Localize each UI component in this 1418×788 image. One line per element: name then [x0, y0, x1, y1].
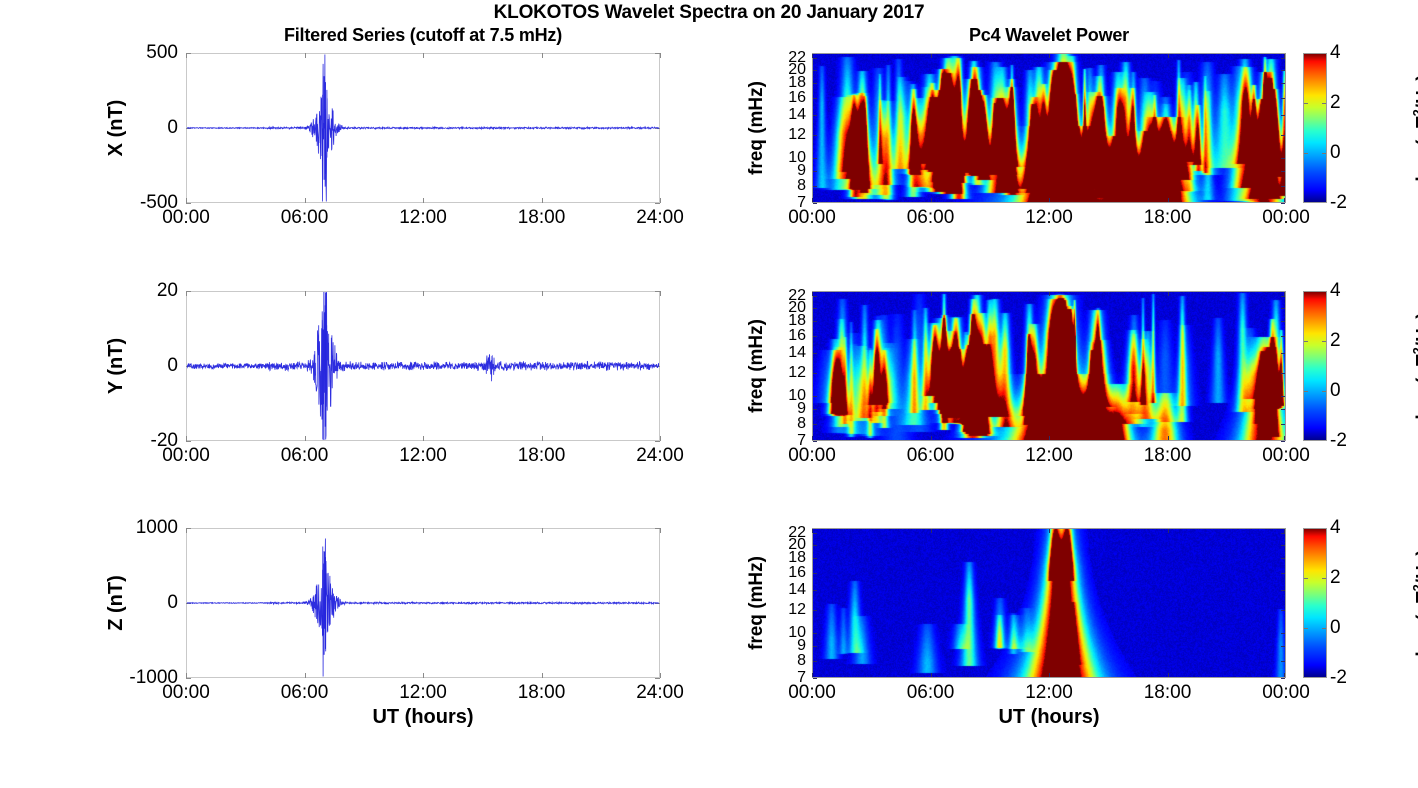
- colorbar-tick-y-wavelet-power-2: 0: [1330, 380, 1341, 402]
- freq-tickmark-z-wavelet-power-5: [813, 610, 817, 611]
- freq-tickmark-r-z-wavelet-power-2: [1281, 558, 1285, 559]
- freq-tickmark-y-wavelet-power-8: [813, 424, 817, 425]
- colorbar-x-wavelet-power: [1303, 53, 1327, 203]
- xtick-z-component-1: 06:00: [281, 682, 329, 704]
- figure-main-title: KLOKOTOS Wavelet Spectra on 20 January 2…: [0, 2, 1418, 24]
- colorbar-label-tail: /Hz): [1413, 312, 1418, 347]
- spec-xtick-z-wavelet-power-3: 18:00: [1144, 682, 1192, 704]
- spec-xtick-x-wavelet-power-2: 12:00: [1025, 207, 1073, 229]
- colorbar-tick-z-wavelet-power-3: -2: [1330, 667, 1347, 689]
- colorbar-label-exp: 2: [1410, 347, 1418, 354]
- colorbar-label-unit: (nT: [1413, 354, 1418, 384]
- freq-tickmark-x-wavelet-power-2: [813, 83, 817, 84]
- spec-xtickmark-z-wavelet-power-1: [931, 673, 932, 677]
- freq-tick-y-wavelet-power-4: 14: [776, 344, 806, 362]
- xtick-z-component-3: 18:00: [518, 682, 566, 704]
- spectrogram-z-wavelet-power: [812, 528, 1286, 678]
- freq-tickmark-r-z-wavelet-power-4: [1281, 590, 1285, 591]
- colorbar-tickmark-l-x-wavelet-power-1: [1304, 103, 1308, 104]
- freq-tickmark-z-wavelet-power-9: [813, 678, 817, 679]
- spec-xtick-z-wavelet-power-2: 12:00: [1025, 682, 1073, 704]
- freq-tickmark-r-x-wavelet-power-5: [1281, 135, 1285, 136]
- freq-tickmark-z-wavelet-power-4: [813, 590, 817, 591]
- colorbar-tick-z-wavelet-power-1: 2: [1330, 567, 1341, 589]
- freq-tickmark-y-wavelet-power-4: [813, 353, 817, 354]
- timeseries-trace-x-component: [187, 54, 659, 202]
- freq-tickmark-r-y-wavelet-power-6: [1281, 396, 1285, 397]
- spec-xtickmark-t-z-wavelet-power-1: [931, 529, 932, 533]
- freq-tick-x-wavelet-power-3: 16: [776, 89, 806, 107]
- tickmark-y-r-y-component-2: [655, 441, 660, 442]
- xtick-x-component-0: 00:00: [162, 207, 210, 229]
- colorbar-tickmark-l-z-wavelet-power-2: [1304, 628, 1308, 629]
- spec-xtickmark-z-wavelet-power-4: [1284, 673, 1285, 677]
- spectrogram-canvas-x-wavelet-power: [813, 54, 1285, 202]
- colorbar-label-x-wavelet-power: log2(nT2/Hz): [1404, 43, 1418, 213]
- xtick-z-component-2: 12:00: [399, 682, 447, 704]
- freq-tickmark-z-wavelet-power-8: [813, 661, 817, 662]
- colorbar-tickmark-l-z-wavelet-power-1: [1304, 578, 1308, 579]
- spec-xtickmark-y-wavelet-power-3: [1168, 436, 1169, 440]
- tickmark-y-r-z-component-2: [655, 678, 660, 679]
- tickmark-y-y-component-2: [186, 441, 191, 442]
- freq-tickmark-r-z-wavelet-power-9: [1281, 678, 1285, 679]
- left-column-title: Filtered Series (cutoff at 7.5 mHz): [186, 25, 660, 46]
- colorbar-tickmark-z-wavelet-power-2: [1322, 628, 1326, 629]
- colorbar-tickmark-l-x-wavelet-power-2: [1304, 153, 1308, 154]
- freq-tickmark-x-wavelet-power-4: [813, 115, 817, 116]
- freq-tickmark-r-x-wavelet-power-1: [1281, 70, 1285, 71]
- freq-tickmark-x-wavelet-power-9: [813, 203, 817, 204]
- colorbar-tick-x-wavelet-power-3: -2: [1330, 192, 1347, 214]
- freq-tickmark-z-wavelet-power-3: [813, 573, 817, 574]
- colorbar-tickmark-x-wavelet-power-2: [1322, 153, 1326, 154]
- yaxis-label-x-component: X (nT): [102, 48, 130, 208]
- colorbar-tickmark-l-y-wavelet-power-2: [1304, 391, 1308, 392]
- xtick-y-component-1: 06:00: [281, 445, 329, 467]
- xtick-x-component-3: 18:00: [518, 207, 566, 229]
- spec-xtickmark-z-wavelet-power-3: [1168, 673, 1169, 677]
- spec-xtickmark-x-wavelet-power-4: [1284, 198, 1285, 202]
- spec-xtick-y-wavelet-power-4: 00:00: [1262, 445, 1310, 467]
- colorbar-label-tail: /Hz): [1413, 549, 1418, 584]
- freq-tickmark-r-z-wavelet-power-6: [1281, 633, 1285, 634]
- freq-axis-label-z-wavelet-power: freq (mHz): [743, 523, 771, 683]
- xtick-y-component-3: 18:00: [518, 445, 566, 467]
- spec-xtickmark-t-x-wavelet-power-0: [812, 54, 813, 58]
- spec-xtickmark-y-wavelet-power-1: [931, 436, 932, 440]
- freq-tickmark-y-wavelet-power-3: [813, 336, 817, 337]
- tickmark-x-x-component-4: [660, 198, 661, 203]
- spec-xtickmark-t-y-wavelet-power-3: [1168, 292, 1169, 296]
- colorbar-label-y-wavelet-power: log2(nT2/Hz): [1404, 281, 1418, 451]
- freq-tickmark-x-wavelet-power-0: [813, 58, 817, 59]
- xtick-x-component-4: 24:00: [636, 207, 684, 229]
- colorbar-tickmark-y-wavelet-power-2: [1322, 391, 1326, 392]
- spec-xtickmark-t-x-wavelet-power-2: [1049, 54, 1050, 58]
- tickmark-y-z-component-2: [186, 678, 191, 679]
- freq-tick-y-wavelet-power-8: 8: [776, 415, 806, 433]
- xtick-y-component-4: 24:00: [636, 445, 684, 467]
- freq-tick-z-wavelet-power-8: 8: [776, 652, 806, 670]
- freq-tick-z-wavelet-power-5: 12: [776, 601, 806, 619]
- colorbar-tick-x-wavelet-power-2: 0: [1330, 142, 1341, 164]
- freq-tickmark-r-y-wavelet-power-3: [1281, 336, 1285, 337]
- tickmark-y-x-component-2: [186, 203, 191, 204]
- colorbar-tick-y-wavelet-power-3: -2: [1330, 430, 1347, 452]
- freq-tick-x-wavelet-power-5: 12: [776, 126, 806, 144]
- colorbar-tickmark-x-wavelet-power-1: [1322, 103, 1326, 104]
- right-column-title: Pc4 Wavelet Power: [812, 25, 1286, 46]
- colorbar-label-log: log: [1413, 628, 1418, 657]
- freq-tickmark-y-wavelet-power-7: [813, 409, 817, 410]
- freq-tickmark-x-wavelet-power-7: [813, 171, 817, 172]
- freq-tickmark-y-wavelet-power-2: [813, 321, 817, 322]
- xtick-x-component-1: 06:00: [281, 207, 329, 229]
- freq-tickmark-r-z-wavelet-power-0: [1281, 533, 1285, 534]
- spec-xtick-x-wavelet-power-4: 00:00: [1262, 207, 1310, 229]
- xtick-y-component-0: 00:00: [162, 445, 210, 467]
- left-xaxis-label: UT (hours): [186, 706, 660, 729]
- colorbar-z-wavelet-power: [1303, 528, 1327, 678]
- spec-xtickmark-z-wavelet-power-2: [1049, 673, 1050, 677]
- colorbar-label-exp: 2: [1410, 584, 1418, 591]
- tickmark-x-t-z-component-4: [660, 528, 661, 533]
- spec-xtickmark-t-x-wavelet-power-4: [1284, 54, 1285, 58]
- freq-tick-y-wavelet-power-3: 16: [776, 327, 806, 345]
- colorbar-label-exp: 2: [1410, 109, 1418, 116]
- freq-tickmark-r-y-wavelet-power-9: [1281, 441, 1285, 442]
- freq-tickmark-r-z-wavelet-power-3: [1281, 573, 1285, 574]
- yaxis-label-y-component: Y (nT): [102, 286, 130, 446]
- spec-xtick-x-wavelet-power-3: 18:00: [1144, 207, 1192, 229]
- spec-xtickmark-x-wavelet-power-3: [1168, 198, 1169, 202]
- spec-xtickmark-t-y-wavelet-power-1: [931, 292, 932, 296]
- freq-tickmark-r-x-wavelet-power-0: [1281, 58, 1285, 59]
- spec-xtickmark-z-wavelet-power-0: [812, 673, 813, 677]
- freq-tickmark-y-wavelet-power-6: [813, 396, 817, 397]
- colorbar-label-log: log: [1413, 153, 1418, 182]
- right-xaxis-label: UT (hours): [812, 706, 1286, 729]
- spec-xtickmark-x-wavelet-power-0: [812, 198, 813, 202]
- spec-xtickmark-t-y-wavelet-power-0: [812, 292, 813, 296]
- freq-tickmark-x-wavelet-power-1: [813, 70, 817, 71]
- colorbar-tick-z-wavelet-power-0: 4: [1330, 517, 1341, 539]
- freq-tickmark-r-y-wavelet-power-7: [1281, 409, 1285, 410]
- spec-xtickmark-t-z-wavelet-power-2: [1049, 529, 1050, 533]
- freq-tick-y-wavelet-power-5: 12: [776, 364, 806, 382]
- freq-tickmark-z-wavelet-power-7: [813, 646, 817, 647]
- spec-xtickmark-y-wavelet-power-4: [1284, 436, 1285, 440]
- spec-xtick-y-wavelet-power-2: 12:00: [1025, 445, 1073, 467]
- freq-tickmark-x-wavelet-power-5: [813, 135, 817, 136]
- spectrogram-y-wavelet-power: [812, 291, 1286, 441]
- spec-xtick-z-wavelet-power-0: 00:00: [788, 682, 836, 704]
- freq-tickmark-r-y-wavelet-power-4: [1281, 353, 1285, 354]
- freq-tickmark-r-z-wavelet-power-7: [1281, 646, 1285, 647]
- tickmark-x-t-y-component-4: [660, 291, 661, 296]
- freq-tickmark-r-z-wavelet-power-8: [1281, 661, 1285, 662]
- freq-tickmark-r-z-wavelet-power-5: [1281, 610, 1285, 611]
- timeseries-trace-z-component: [187, 529, 659, 677]
- colorbar-tick-y-wavelet-power-1: 2: [1330, 330, 1341, 352]
- spec-xtick-y-wavelet-power-3: 18:00: [1144, 445, 1192, 467]
- tickmark-x-z-component-4: [660, 673, 661, 678]
- spec-xtickmark-x-wavelet-power-2: [1049, 198, 1050, 202]
- spec-xtick-z-wavelet-power-4: 00:00: [1262, 682, 1310, 704]
- spec-xtick-x-wavelet-power-1: 06:00: [907, 207, 955, 229]
- freq-tick-z-wavelet-power-4: 14: [776, 581, 806, 599]
- colorbar-tickmark-l-y-wavelet-power-1: [1304, 341, 1308, 342]
- freq-tickmark-x-wavelet-power-3: [813, 98, 817, 99]
- freq-tickmark-r-x-wavelet-power-4: [1281, 115, 1285, 116]
- freq-tickmark-r-y-wavelet-power-2: [1281, 321, 1285, 322]
- freq-tickmark-r-y-wavelet-power-5: [1281, 373, 1285, 374]
- spectrogram-x-wavelet-power: [812, 53, 1286, 203]
- freq-tickmark-r-x-wavelet-power-9: [1281, 203, 1285, 204]
- freq-axis-label-x-wavelet-power: freq (mHz): [743, 48, 771, 208]
- freq-tickmark-r-x-wavelet-power-2: [1281, 83, 1285, 84]
- freq-tickmark-y-wavelet-power-9: [813, 441, 817, 442]
- freq-tickmark-x-wavelet-power-8: [813, 186, 817, 187]
- xtick-x-component-2: 12:00: [399, 207, 447, 229]
- colorbar-tick-x-wavelet-power-0: 4: [1330, 42, 1341, 64]
- spec-xtickmark-t-x-wavelet-power-1: [931, 54, 932, 58]
- freq-tickmark-r-z-wavelet-power-1: [1281, 545, 1285, 546]
- freq-tickmark-r-y-wavelet-power-1: [1281, 308, 1285, 309]
- spec-xtickmark-t-y-wavelet-power-4: [1284, 292, 1285, 296]
- spec-xtick-y-wavelet-power-1: 06:00: [907, 445, 955, 467]
- freq-tick-x-wavelet-power-8: 8: [776, 177, 806, 195]
- spec-xtickmark-t-x-wavelet-power-3: [1168, 54, 1169, 58]
- freq-tickmark-r-x-wavelet-power-6: [1281, 158, 1285, 159]
- spec-xtickmark-y-wavelet-power-2: [1049, 436, 1050, 440]
- freq-tick-z-wavelet-power-3: 16: [776, 564, 806, 582]
- colorbar-y-wavelet-power: [1303, 291, 1327, 441]
- colorbar-label-tail: /Hz): [1413, 74, 1418, 109]
- spec-xtickmark-y-wavelet-power-0: [812, 436, 813, 440]
- freq-tickmark-r-y-wavelet-power-0: [1281, 296, 1285, 297]
- spec-xtickmark-t-z-wavelet-power-3: [1168, 529, 1169, 533]
- freq-tickmark-z-wavelet-power-0: [813, 533, 817, 534]
- colorbar-label-log: log: [1413, 391, 1418, 420]
- figure-canvas: KLOKOTOS Wavelet Spectra on 20 January 2…: [0, 0, 1418, 788]
- xtick-y-component-2: 12:00: [399, 445, 447, 467]
- freq-tickmark-x-wavelet-power-6: [813, 158, 817, 159]
- colorbar-tickmark-y-wavelet-power-1: [1322, 341, 1326, 342]
- xtick-z-component-4: 24:00: [636, 682, 684, 704]
- freq-tickmark-r-x-wavelet-power-7: [1281, 171, 1285, 172]
- freq-tickmark-z-wavelet-power-2: [813, 558, 817, 559]
- spec-xtick-y-wavelet-power-0: 00:00: [788, 445, 836, 467]
- yaxis-label-z-component: Z (nT): [102, 523, 130, 683]
- spec-xtickmark-t-z-wavelet-power-0: [812, 529, 813, 533]
- freq-tickmark-y-wavelet-power-5: [813, 373, 817, 374]
- tickmark-x-y-component-4: [660, 436, 661, 441]
- colorbar-label-unit: (nT: [1413, 116, 1418, 146]
- freq-tick-x-wavelet-power-4: 14: [776, 106, 806, 124]
- freq-tickmark-z-wavelet-power-6: [813, 633, 817, 634]
- spectrogram-canvas-y-wavelet-power: [813, 292, 1285, 440]
- colorbar-tickmark-z-wavelet-power-1: [1322, 578, 1326, 579]
- spec-xtick-z-wavelet-power-1: 06:00: [907, 682, 955, 704]
- spec-xtickmark-t-z-wavelet-power-4: [1284, 529, 1285, 533]
- colorbar-label-unit: (nT: [1413, 591, 1418, 621]
- freq-tickmark-r-x-wavelet-power-3: [1281, 98, 1285, 99]
- tickmark-x-t-x-component-4: [660, 53, 661, 58]
- colorbar-tick-y-wavelet-power-0: 4: [1330, 280, 1341, 302]
- colorbar-tick-x-wavelet-power-1: 2: [1330, 92, 1341, 114]
- freq-tickmark-y-wavelet-power-0: [813, 296, 817, 297]
- xtick-z-component-0: 00:00: [162, 682, 210, 704]
- freq-tickmark-z-wavelet-power-1: [813, 545, 817, 546]
- freq-tickmark-y-wavelet-power-1: [813, 308, 817, 309]
- spectrogram-canvas-z-wavelet-power: [813, 529, 1285, 677]
- spec-xtick-x-wavelet-power-0: 00:00: [788, 207, 836, 229]
- tickmark-y-r-x-component-2: [655, 203, 660, 204]
- freq-tickmark-r-x-wavelet-power-8: [1281, 186, 1285, 187]
- freq-tickmark-r-y-wavelet-power-8: [1281, 424, 1285, 425]
- timeseries-trace-y-component: [187, 292, 659, 440]
- colorbar-tick-z-wavelet-power-2: 0: [1330, 617, 1341, 639]
- colorbar-label-z-wavelet-power: log2(nT2/Hz): [1404, 518, 1418, 688]
- spec-xtickmark-t-y-wavelet-power-2: [1049, 292, 1050, 296]
- spec-xtickmark-x-wavelet-power-1: [931, 198, 932, 202]
- freq-axis-label-y-wavelet-power: freq (mHz): [743, 286, 771, 446]
